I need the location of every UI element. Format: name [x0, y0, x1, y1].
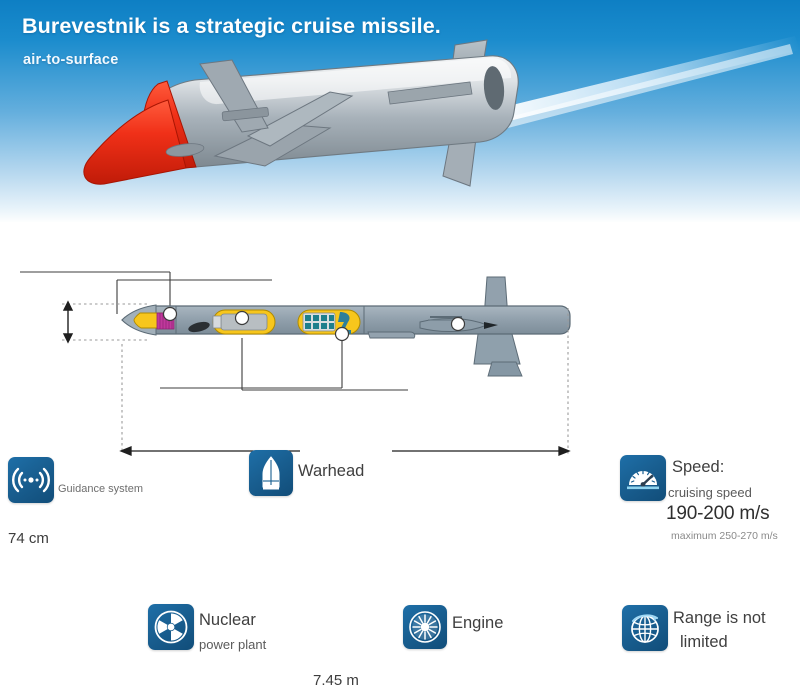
turbine-icon	[407, 609, 443, 645]
page-subtitle: air-to-surface	[23, 52, 118, 68]
range-label-line2: limited	[680, 633, 728, 652]
warhead-label: Warhead	[298, 462, 364, 481]
speed-icon-tile[interactable]	[620, 455, 666, 501]
page-title: Burevestnik is a strategic cruise missil…	[22, 14, 441, 39]
warhead-cone	[213, 316, 221, 328]
radio-waves-icon	[14, 463, 48, 497]
speed-maximum-note: maximum 250-270 m/s	[671, 530, 778, 542]
callout-dot-engine[interactable]	[452, 318, 465, 331]
nuclear-icon-tile[interactable]	[148, 604, 194, 650]
guidance-system-icon-tile[interactable]	[8, 457, 54, 503]
guidance-system-label: Guidance system	[58, 483, 143, 495]
callout-dot-warhead[interactable]	[236, 312, 249, 325]
height-dimension-label: 74 cm	[8, 530, 49, 547]
speed-title: Speed:	[672, 458, 724, 477]
length-dimension-label: 7.45 m	[313, 672, 359, 689]
range-icon-tile[interactable]	[622, 605, 668, 651]
infographic-root: Burevestnik is a strategic cruise missil…	[0, 0, 800, 481]
engine-icon-tile[interactable]	[403, 605, 447, 649]
nuclear-sublabel: power plant	[199, 637, 266, 652]
warhead-icon-tile[interactable]	[249, 450, 293, 496]
warhead-icon	[258, 455, 284, 491]
globe-icon	[627, 610, 663, 646]
speedometer-icon	[624, 459, 662, 497]
callout-dot-guidance[interactable]	[164, 308, 177, 321]
speed-value: 190-200 m/s	[666, 503, 769, 525]
speed-cruising-label: cruising speed	[668, 485, 752, 500]
hero-banner: Burevestnik is a strategic cruise missil…	[0, 0, 800, 222]
radiation-icon	[153, 609, 189, 645]
missile-cutaway-diagram	[0, 222, 800, 481]
ventral-fairing	[368, 332, 415, 338]
length-dimension-arrow	[121, 447, 569, 455]
nuclear-label: Nuclear	[199, 611, 256, 630]
engine-label: Engine	[452, 614, 503, 633]
height-dimension-arrow	[64, 302, 72, 342]
specs-panel: 74 cm 7.45 m Guidance system	[0, 222, 800, 481]
callout-dot-nuclear[interactable]	[336, 328, 349, 341]
cutaway-tail-fin-horizontal	[474, 334, 520, 364]
cutaway-tail-blade	[488, 362, 522, 376]
range-label-line1: Range is not	[673, 609, 766, 628]
nose-tip	[84, 100, 186, 184]
exhaust-trail	[500, 36, 800, 128]
